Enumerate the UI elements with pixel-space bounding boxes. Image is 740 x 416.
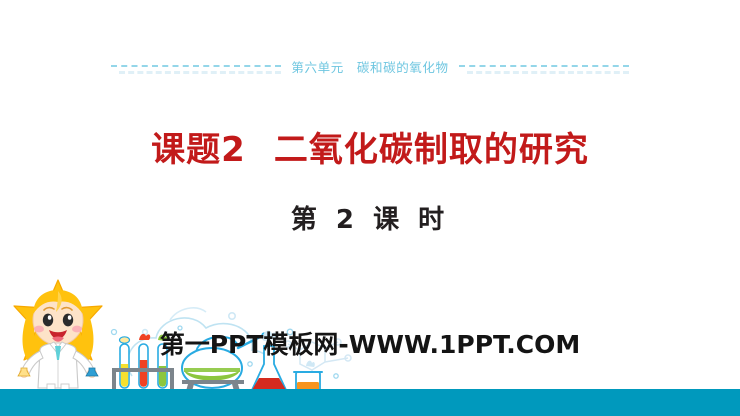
bottom-accent-bar xyxy=(0,389,740,416)
watermark-text: 第一PPT模板网-WWW.1PPT.COM xyxy=(0,325,740,361)
unit-label: 第六单元 碳和碳的氧化物 xyxy=(291,57,448,76)
unit-header-band: 第六单元 碳和碳的氧化物 xyxy=(0,50,740,82)
presentation-slide: 第六单元 碳和碳的氧化物 课题2二氧化碳制取的研究 第 2 课 时 xyxy=(0,0,740,416)
left-dashed-divider xyxy=(111,65,281,67)
lesson-number: 课题2 xyxy=(151,130,246,170)
page-subtitle: 第 2 课 时 xyxy=(0,199,740,236)
page-title: 课题2二氧化碳制取的研究 xyxy=(0,122,740,171)
lesson-title: 二氧化碳制取的研究 xyxy=(274,130,589,170)
right-dashed-divider xyxy=(459,65,629,67)
